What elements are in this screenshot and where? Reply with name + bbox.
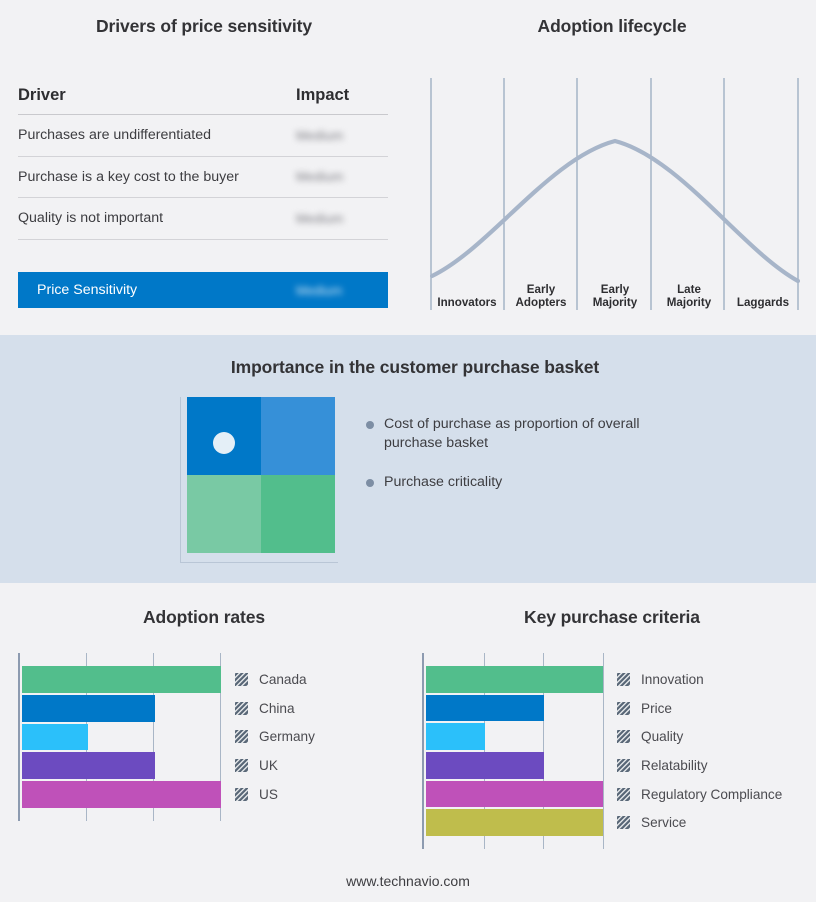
table-header-row: Driver Impact: [18, 86, 388, 115]
swatch-icon: [617, 702, 630, 715]
bar-innovation: [426, 666, 603, 693]
drivers-title: Drivers of price sensitivity: [0, 16, 408, 37]
key-purchase-criteria-title: Key purchase criteria: [408, 607, 816, 628]
stage-label-line1: Laggards: [737, 296, 789, 309]
swatch-icon: [235, 730, 248, 743]
adoption-rates-panel: Adoption rates Canada China Germany UK: [0, 583, 408, 873]
stage-label-line1: Early: [601, 283, 629, 296]
legend-item-innovation: Innovation: [617, 665, 782, 694]
quadrant-top-right: [261, 397, 335, 475]
table-row: Purchases are undifferentiated Medium: [18, 115, 388, 157]
bar-row-china: [22, 695, 221, 722]
legend-item-label: Purchase criticality: [384, 473, 502, 492]
drivers-table: Driver Impact Purchases are undifferenti…: [18, 86, 388, 240]
bell-curve-path: [432, 141, 798, 281]
bar-row-canada: [22, 666, 221, 693]
lifecycle-stage-early-adopters: EarlyAdopters: [504, 278, 578, 310]
legend-item-canada: Canada: [235, 665, 315, 694]
column-header-impact: Impact: [296, 86, 388, 105]
adoption-rates-chart: Canada China Germany UK US: [18, 653, 390, 821]
bar-service: [426, 809, 603, 836]
swatch-icon: [617, 816, 630, 829]
impact-cell: Medium: [296, 128, 388, 143]
column-header-driver: Driver: [18, 86, 296, 105]
lifecycle-stage-late-majority: LateMajority: [652, 278, 726, 310]
quadrant-grid: [187, 397, 335, 553]
position-marker-dot: [213, 432, 235, 454]
lifecycle-stage-laggards: Laggards: [726, 278, 800, 310]
adoption-lifecycle-title: Adoption lifecycle: [408, 16, 816, 37]
stage-label-line1: Late: [677, 283, 701, 296]
bar-china: [22, 695, 155, 722]
bar-relatability: [426, 752, 544, 779]
driver-cell: Purchase is a key cost to the buyer: [18, 169, 296, 185]
adoption-bars-stack: [22, 665, 221, 809]
key-purchase-criteria-panel: Key purchase criteria Innovation Price: [408, 583, 816, 873]
purchase-basket-legend: Cost of purchase as proportion of overal…: [366, 415, 666, 512]
bar-row-regulatory-compliance: [426, 781, 603, 808]
purchase-basket-title: Importance in the customer purchase bask…: [0, 357, 816, 378]
legend-label: UK: [259, 758, 278, 773]
bar-germany: [22, 724, 88, 751]
price-sensitivity-highlight-row: Price Sensitivity Medium: [18, 272, 388, 308]
lifecycle-stage-innovators: Innovators: [430, 278, 504, 310]
bar-canada: [22, 666, 221, 693]
stage-label-line2: Majority: [667, 296, 711, 309]
quadrant-matrix: [180, 397, 338, 563]
drivers-panel: Drivers of price sensitivity Driver Impa…: [0, 0, 408, 335]
legend-item-service: Service: [617, 808, 782, 837]
bullet-icon: [366, 421, 374, 429]
legend-label: Canada: [259, 672, 307, 687]
criteria-legend: Innovation Price Quality Relatability Re…: [603, 653, 782, 849]
bar-row-relatability: [426, 752, 603, 779]
swatch-icon: [617, 788, 630, 801]
quadrant-bottom-right: [261, 475, 335, 553]
bar-row-germany: [22, 724, 221, 751]
criteria-plot-area: [422, 653, 603, 849]
bullet-icon: [366, 479, 374, 487]
legend-label: US: [259, 787, 278, 802]
swatch-icon: [235, 702, 248, 715]
bar-uk: [22, 752, 155, 779]
legend-item: Cost of purchase as proportion of overal…: [366, 415, 666, 453]
driver-cell: Purchases are undifferentiated: [18, 127, 296, 143]
footer-url: www.technavio.com: [0, 873, 816, 889]
swatch-icon: [617, 730, 630, 743]
purchase-basket-panel: Importance in the customer purchase bask…: [0, 335, 816, 583]
table-row: Quality is not important Medium: [18, 198, 388, 240]
key-purchase-criteria-chart: Innovation Price Quality Relatability Re…: [422, 653, 804, 849]
swatch-icon: [617, 673, 630, 686]
stage-label-line1: Early: [527, 283, 555, 296]
bar-row-price: [426, 695, 603, 722]
impact-cell: Medium: [296, 169, 388, 184]
adoption-plot-area: [18, 653, 221, 821]
table-row: Purchase is a key cost to the buyer Medi…: [18, 157, 388, 199]
legend-label: Service: [641, 815, 686, 830]
bar-row-quality: [426, 723, 603, 750]
stage-label-line1: Innovators: [437, 296, 496, 309]
bar-row-us: [22, 781, 221, 808]
bar-quality: [426, 723, 485, 750]
impact-cell: Medium: [296, 211, 388, 226]
legend-label: Quality: [641, 729, 683, 744]
legend-label: Regulatory Compliance: [641, 787, 782, 802]
legend-item-price: Price: [617, 694, 782, 723]
bar-row-service: [426, 809, 603, 836]
lifecycle-curve-svg: [430, 78, 800, 310]
adoption-lifecycle-panel: Adoption lifecycle Innovators EarlyAdopt…: [408, 0, 816, 335]
adoption-legend: Canada China Germany UK US: [221, 653, 315, 821]
bar-us: [22, 781, 221, 808]
stage-label-line2: Majority: [593, 296, 637, 309]
legend-item-regulatory-compliance: Regulatory Compliance: [617, 780, 782, 809]
legend-item-relatability: Relatability: [617, 751, 782, 780]
adoption-rates-title: Adoption rates: [0, 607, 408, 628]
legend-label: Innovation: [641, 672, 704, 687]
lifecycle-chart: [430, 78, 800, 310]
legend-item-uk: UK: [235, 751, 315, 780]
legend-item: Purchase criticality: [366, 473, 666, 492]
legend-label: China: [259, 701, 295, 716]
legend-label: Price: [641, 701, 672, 716]
legend-item-label: Cost of purchase as proportion of overal…: [384, 415, 646, 453]
lifecycle-stage-labels: Innovators EarlyAdopters EarlyMajority L…: [430, 278, 800, 310]
bar-price: [426, 695, 544, 722]
quadrant-bottom-left: [187, 475, 261, 553]
stage-label-line2: Adopters: [516, 296, 567, 309]
legend-item-germany: Germany: [235, 723, 315, 752]
swatch-icon: [235, 673, 248, 686]
legend-label: Germany: [259, 729, 315, 744]
adoption-plot-frame: [18, 653, 221, 821]
lifecycle-stage-early-majority: EarlyMajority: [578, 278, 652, 310]
criteria-plot-frame: [422, 653, 603, 849]
legend-item-quality: Quality: [617, 722, 782, 751]
bar-row-uk: [22, 752, 221, 779]
price-sensitivity-impact: Medium: [296, 283, 388, 298]
swatch-icon: [235, 788, 248, 801]
criteria-bars-stack: [426, 665, 603, 837]
bar-regulatory-compliance: [426, 781, 603, 808]
legend-item-china: China: [235, 694, 315, 723]
lifecycle-divider-lines: [431, 78, 798, 310]
driver-cell: Quality is not important: [18, 210, 296, 226]
price-sensitivity-label: Price Sensitivity: [37, 282, 296, 298]
swatch-icon: [617, 759, 630, 772]
bar-row-innovation: [426, 666, 603, 693]
legend-label: Relatability: [641, 758, 708, 773]
swatch-icon: [235, 759, 248, 772]
legend-item-us: US: [235, 780, 315, 809]
